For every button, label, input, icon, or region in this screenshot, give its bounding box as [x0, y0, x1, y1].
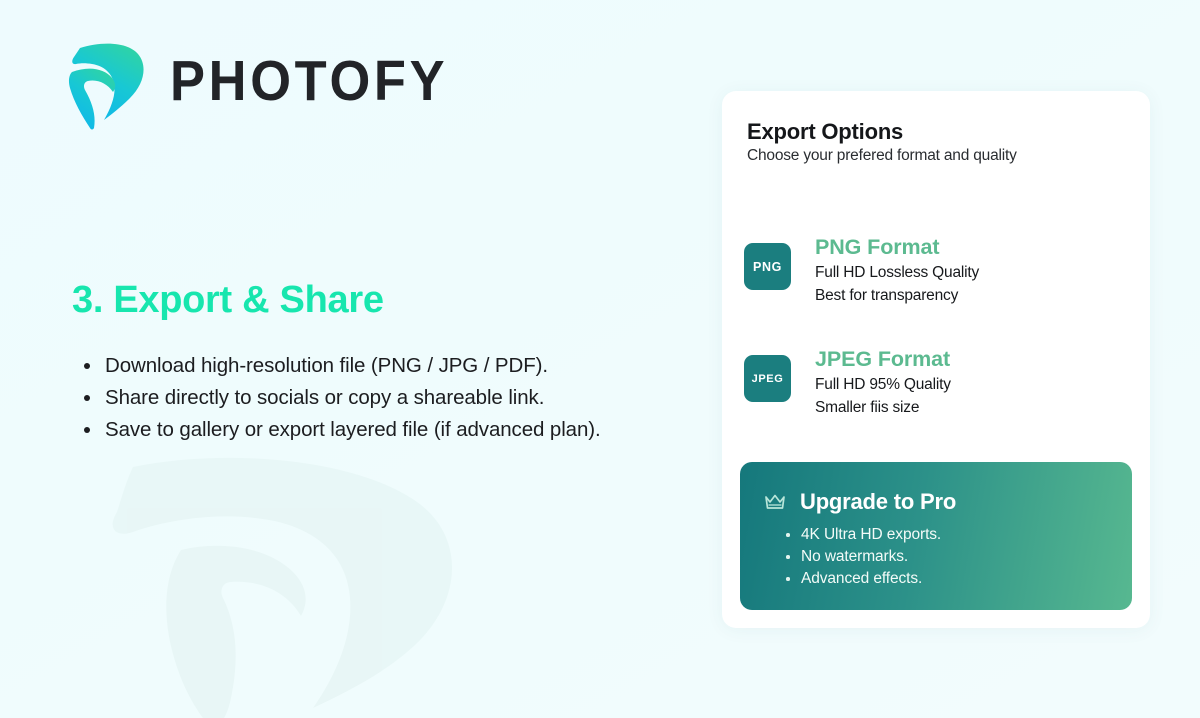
format-option-png[interactable]: PNG PNG Format Full HD Lossless Quality …	[744, 234, 979, 306]
png-badge: PNG	[744, 243, 791, 290]
png-format-line-1: Full HD Lossless Quality	[815, 264, 979, 283]
card-subtitle: Choose your prefered format and quality	[747, 147, 1017, 165]
jpeg-badge: JPEG	[744, 355, 791, 402]
png-format-line-2: Best for transparency	[815, 287, 979, 306]
left-content: 3. Export & Share Download high-resoluti…	[72, 280, 692, 446]
feature-bullet-list: Download high-resolution file (PNG / JPG…	[72, 350, 692, 447]
format-option-jpeg[interactable]: JPEG JPEG Format Full HD 95% Quality Sma…	[744, 346, 951, 418]
brand-name: PHOTOFY	[170, 53, 448, 110]
page-title: 3. Export & Share	[72, 280, 692, 322]
brand-logo: PHOTOFY	[68, 32, 472, 130]
export-options-card: Export Options Choose your prefered form…	[722, 91, 1150, 628]
jpeg-format-line-2: Smaller fiis size	[815, 399, 951, 418]
pro-feature-list: 4K Ultra HD exports. No watermarks. Adva…	[784, 524, 941, 590]
png-format-title: PNG Format	[815, 234, 979, 260]
photofy-swoosh-logo-icon	[68, 32, 148, 130]
list-item: Download high-resolution file (PNG / JPG…	[72, 350, 692, 382]
crown-icon	[763, 492, 787, 512]
list-item: Share directly to socials or copy a shar…	[72, 382, 692, 414]
list-item: No watermarks.	[784, 546, 941, 568]
jpeg-format-title: JPEG Format	[815, 346, 951, 372]
pro-header: Upgrade to Pro	[763, 489, 956, 515]
list-item: 4K Ultra HD exports.	[784, 524, 941, 546]
upgrade-to-pro-panel[interactable]: Upgrade to Pro 4K Ultra HD exports. No w…	[740, 462, 1132, 610]
background-watermark-icon	[55, 440, 485, 718]
list-item: Advanced effects.	[784, 568, 941, 590]
card-title: Export Options	[747, 119, 903, 145]
pro-title: Upgrade to Pro	[800, 489, 956, 515]
jpeg-format-line-1: Full HD 95% Quality	[815, 376, 951, 395]
list-item: Save to gallery or export layered file (…	[72, 414, 692, 446]
